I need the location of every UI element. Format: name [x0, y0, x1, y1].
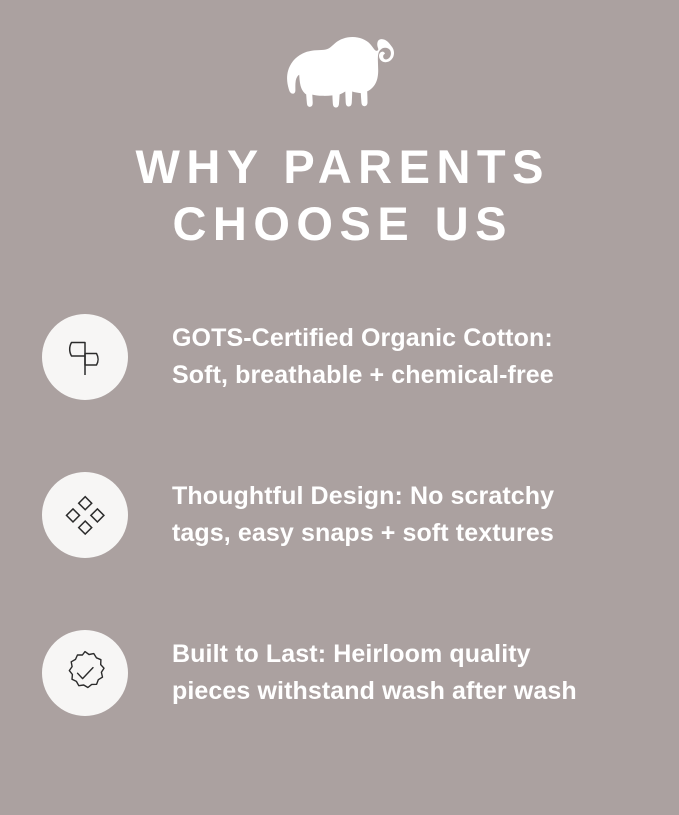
feature-line-2: pieces withstand wash after wash [172, 677, 577, 705]
feature-text-built-to-last: Built to Last: Heirloom quality pieces w… [172, 636, 577, 710]
page-title: WHY PARENTS CHOOSE US [0, 138, 679, 252]
feature-row-built-to-last: Built to Last: Heirloom quality pieces w… [0, 612, 679, 734]
why-parents-choose-us-panel: WHY PARENTS CHOOSE US GOTS-Certified Org… [0, 0, 679, 815]
feature-line-1: GOTS-Certified Organic Cotton: [172, 324, 553, 352]
sprout-leaf-icon [62, 334, 108, 380]
feature-icon-badge [42, 314, 128, 400]
brand-logo [280, 34, 400, 110]
feature-line-2: tags, easy snaps + soft textures [172, 519, 554, 547]
feature-row-thoughtful-design: Thoughtful Design: No scratchy tags, eas… [0, 454, 679, 576]
four-diamonds-icon [62, 492, 108, 538]
page-title-line-1: WHY PARENTS [0, 138, 679, 195]
feature-line-2: Soft, breathable + chemical-free [172, 361, 554, 389]
feature-icon-badge [42, 472, 128, 558]
feature-line-1: Built to Last: Heirloom quality [172, 640, 531, 668]
feature-icon-badge [42, 630, 128, 716]
feature-list: GOTS-Certified Organic Cotton: Soft, bre… [0, 296, 679, 734]
feature-row-organic-cotton: GOTS-Certified Organic Cotton: Soft, bre… [0, 296, 679, 418]
page-title-line-2: CHOOSE US [0, 195, 679, 252]
feature-text-organic-cotton: GOTS-Certified Organic Cotton: Soft, bre… [172, 320, 554, 394]
scalloped-check-badge-icon [60, 648, 110, 698]
elephant-logo-icon [285, 36, 395, 108]
feature-line-1: Thoughtful Design: No scratchy [172, 482, 554, 510]
feature-text-thoughtful-design: Thoughtful Design: No scratchy tags, eas… [172, 478, 554, 552]
